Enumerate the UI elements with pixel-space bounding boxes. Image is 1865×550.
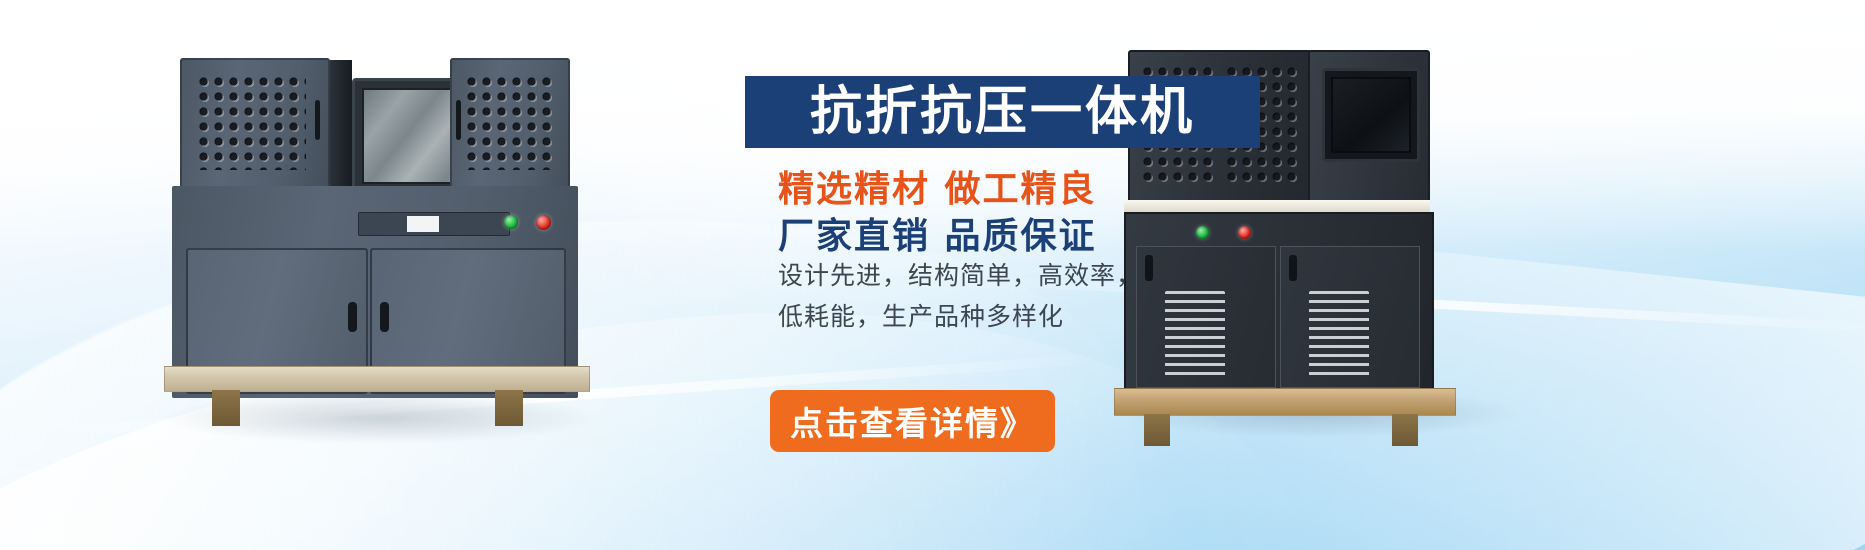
left-machine-green-indicator[interactable]	[504, 215, 518, 229]
left-machine-upper-left-cabinet	[180, 58, 330, 188]
view-details-button-label: 点击查看详情》	[790, 397, 1035, 445]
left-machine-pallet-leg-1	[212, 390, 240, 426]
left-machine-upper-right-handle	[456, 100, 461, 140]
left-machine-upper-right-cabinet	[450, 58, 570, 188]
banner-subtitle-blue: 厂家直销 品质保证	[778, 207, 1338, 259]
left-machine-pallet-leg-2	[495, 390, 523, 426]
product-image-left-machine	[150, 40, 610, 440]
banner-subtitle-orange: 精选精材 做工精良	[778, 160, 1338, 212]
promo-banner: 抗折抗压一体机 精选精材 做工精良 厂家直销 品质保证 设计先进，结构简单，高效…	[0, 0, 1865, 550]
right-machine-display-screen	[1322, 68, 1420, 162]
left-machine-side-panel-1	[330, 60, 352, 188]
left-machine-upper-left-handle	[315, 100, 320, 140]
left-machine-perforated-panel-1	[196, 74, 306, 170]
left-machine-door-2-handle[interactable]	[380, 302, 389, 332]
left-machine-control-label	[407, 216, 439, 232]
banner-title: 抗折抗压一体机	[810, 86, 1195, 138]
right-machine-pallet-leg-2	[1392, 414, 1418, 446]
left-machine-perforated-panel-2	[464, 74, 552, 170]
banner-body-line-1: 设计先进，结构简单，高效率，	[778, 256, 1398, 292]
view-details-button[interactable]: 点击查看详情》	[770, 390, 1055, 452]
left-machine-pallet	[164, 366, 590, 392]
right-machine-pallet-leg-1	[1144, 414, 1170, 446]
right-machine-pallet	[1114, 388, 1456, 416]
banner-title-bar: 抗折抗压一体机	[745, 76, 1260, 148]
right-machine-screen-glass	[1331, 77, 1411, 153]
left-machine-red-indicator[interactable]	[536, 215, 551, 230]
left-machine-door-1-handle[interactable]	[348, 302, 357, 332]
banner-body-line-2: 低耗能，生产品种多样化	[778, 297, 1398, 333]
left-machine-control-slot	[358, 212, 510, 236]
